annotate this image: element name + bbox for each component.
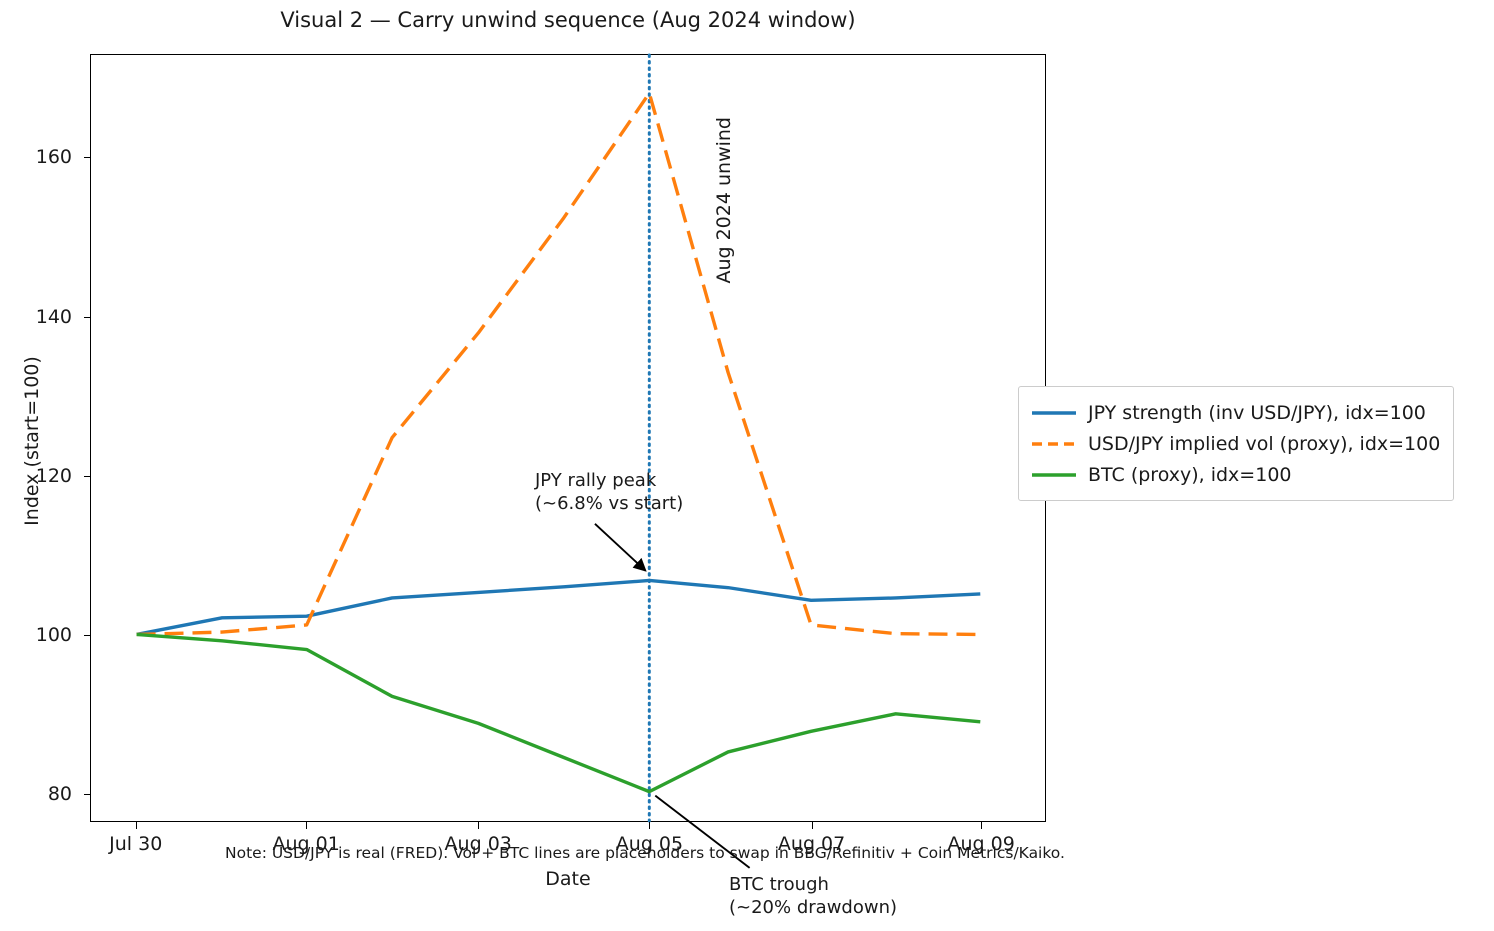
legend-swatch-icon [1031, 405, 1077, 421]
x-axis-ticks [90, 822, 1046, 832]
x-tick-mark [981, 822, 982, 829]
x-tick-mark [478, 822, 479, 829]
vline-label: Aug 2024 unwind [713, 117, 735, 284]
legend-label: USD/JPY implied vol (proxy), idx=100 [1088, 433, 1440, 455]
x-tick-mark [649, 822, 650, 829]
legend-label: JPY strength (inv USD/JPY), idx=100 [1088, 402, 1426, 424]
legend-label: BTC (proxy), idx=100 [1088, 464, 1292, 486]
x-tick-mark [136, 822, 137, 829]
x-tick-label: Aug 05 [616, 833, 683, 855]
series-line-1 [137, 93, 981, 634]
x-tick-label: Jul 30 [109, 833, 162, 855]
annotation-jpy-rally-peak: JPY rally peak(~6.8% vs start) [535, 470, 683, 515]
x-axis-label: Date [90, 868, 1046, 890]
x-tick-label: Aug 01 [272, 833, 339, 855]
x-tick-label: Aug 09 [947, 833, 1014, 855]
annotation-arrow-jpy [595, 524, 645, 571]
annotation-btc-line2: (~20% drawdown) [729, 897, 897, 918]
chart-figure: Visual 2 — Carry unwind sequence (Aug 20… [0, 0, 1494, 931]
x-tick-mark [812, 822, 813, 829]
x-axis-tick-labels: Jul 30Aug 01Aug 03Aug 05Aug 07Aug 09 [90, 833, 1046, 865]
x-tick-label: Aug 03 [445, 833, 512, 855]
y-axis-label: Index (start=100) [21, 57, 43, 825]
annotation-btc-trough: BTC trough(~20% drawdown) [729, 874, 897, 919]
series-line-2 [137, 634, 981, 791]
legend-swatch-icon [1031, 436, 1077, 452]
legend-item[interactable]: JPY strength (inv USD/JPY), idx=100 [1031, 397, 1440, 428]
series-line-0 [137, 580, 981, 634]
plot-canvas [91, 55, 1045, 821]
legend-item[interactable]: BTC (proxy), idx=100 [1031, 459, 1440, 490]
annotation-jpy-line1: JPY rally peak [535, 470, 656, 491]
x-tick-mark [306, 822, 307, 829]
annotation-jpy-line2: (~6.8% vs start) [535, 493, 683, 514]
x-tick-label: Aug 07 [778, 833, 845, 855]
legend-swatch-icon [1031, 467, 1077, 483]
y-tick-label: 80 [48, 783, 72, 805]
annotation-btc-line1: BTC trough [729, 874, 829, 895]
chart-legend[interactable]: JPY strength (inv USD/JPY), idx=100USD/J… [1018, 386, 1454, 501]
legend-item[interactable]: USD/JPY implied vol (proxy), idx=100 [1031, 428, 1440, 459]
plot-area: Note: USD/JPY is real (FRED). Vol + BTC … [90, 54, 1046, 822]
page-title: Visual 2 — Carry unwind sequence (Aug 20… [90, 8, 1046, 32]
